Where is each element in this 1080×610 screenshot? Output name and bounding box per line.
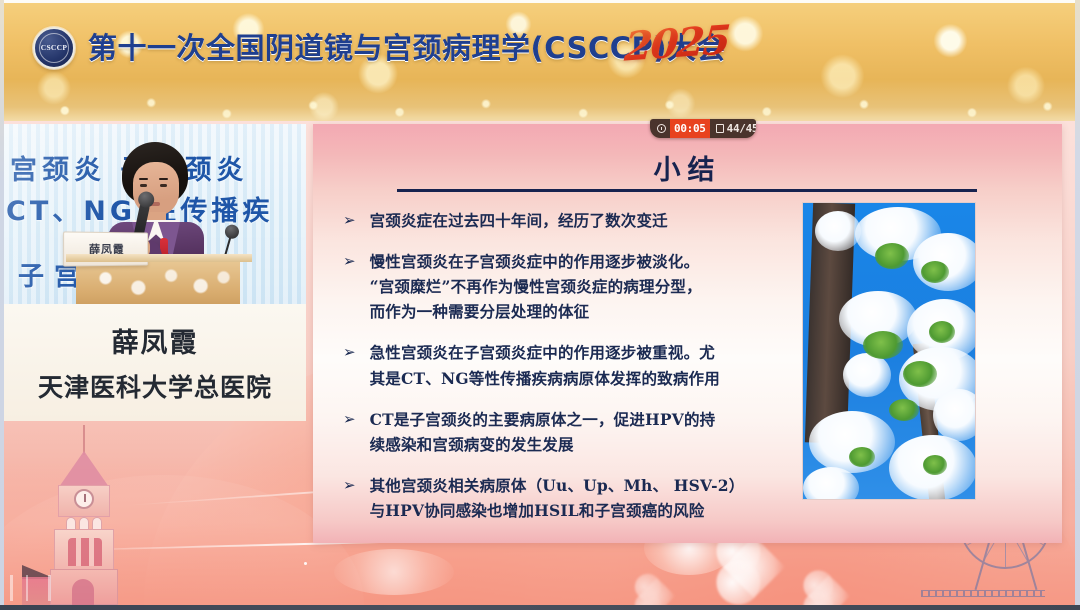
page-counter-segment: 44/45: [710, 122, 756, 135]
clock-icon: [657, 124, 666, 133]
glow-blob-2: [334, 549, 454, 595]
page-counter-value: 44/45: [727, 122, 756, 135]
presentation-screen-background: 宫颈炎 子宫颈炎 CT、NG 性传播疾 子宫 要病 薛凤霞: [4, 124, 306, 304]
timer-elapsed-value: 00:05: [674, 122, 706, 135]
tower-body-upper: [54, 529, 114, 571]
frame-left: [0, 0, 4, 610]
speaker-video-panel[interactable]: 宫颈炎 子宫颈炎 CT、NG 性传播疾 子宫 要病 薛凤霞: [4, 124, 306, 421]
list-item: ➢ CT是子宫颈炎的主要病原体之一，促进HPV的持 续感染和宫颈病变的发生发展: [343, 407, 813, 457]
speaker-name: 薛凤霞: [112, 321, 199, 360]
logo-ring: CSCCP: [39, 33, 69, 63]
speaker-affiliation: 天津医科大学总医院: [38, 368, 272, 404]
event-header-banner: CSCCP 第十一次全国阴道镜与宫颈病理学(CSCCP)大会 2025: [0, 3, 1080, 121]
bullet-text: 急性宫颈炎在子宫颈炎症中的作用逐步被重视。尤 其是CT、NG等性传播疾病病原体发…: [370, 340, 720, 390]
slide-title: 小结: [313, 148, 1062, 187]
bullet-arrow-icon: ➢: [343, 343, 356, 361]
page-icon: [716, 124, 724, 133]
bullet-arrow-icon: ➢: [343, 211, 356, 229]
screenshot-stage: CSCCP 第十一次全国阴道镜与宫颈病理学(CSCCP)大会 2025: [0, 0, 1080, 610]
slide-photo-flowering-tree: [802, 202, 976, 500]
bullet-text: 宫颈炎症在过去四十年间，经历了数次变迁: [370, 208, 668, 233]
list-item: ➢ 宫颈炎症在过去四十年间，经历了数次变迁: [343, 208, 813, 233]
frame-bottom: [0, 605, 1080, 610]
frame-right: [1075, 0, 1080, 610]
list-item: ➢ 急性宫颈炎在子宫颈炎症中的作用逐步被重视。尤 其是CT、NG等性传播疾病病原…: [343, 340, 813, 390]
podium-top-edge: [66, 254, 252, 262]
bullet-text: 其他宫颈炎相关病原体（Uu、Up、Mh、 HSV-2） 与HPV协同感染也增加H…: [370, 473, 745, 523]
bullet-arrow-icon: ➢: [343, 252, 356, 270]
timer-clock-segment: [650, 124, 670, 133]
slide-title-underline: [397, 189, 977, 192]
logo-text: CSCCP: [41, 44, 68, 52]
tower-clock-face-icon: [74, 489, 94, 509]
slide-panel[interactable]: 小结 ➢ 宫颈炎症在过去四十年间，经历了数次变迁 ➢ 慢性宫颈炎在子宫颈炎症中的…: [313, 124, 1062, 543]
bullet-arrow-icon: ➢: [343, 410, 356, 428]
bullet-arrow-icon: ➢: [343, 476, 356, 494]
frame-top: [0, 0, 1080, 3]
list-item: ➢ 慢性宫颈炎在子宫颈炎症中的作用逐步被淡化。 “宫颈糜烂”不再作为慢性宫颈炎症…: [343, 249, 813, 324]
timer-elapsed-segment: 00:05: [670, 119, 710, 138]
csccp-logo-icon: CSCCP: [33, 27, 75, 69]
speaker-caption-area: 薛凤霞 天津医科大学总医院: [4, 304, 306, 421]
status-badge[interactable]: 00:05 44/45: [650, 119, 756, 138]
tower-roof: [59, 451, 109, 487]
ferris-base-bridge: [921, 590, 1045, 597]
sparkle-dot: [304, 562, 307, 565]
slide-bullet-list: ➢ 宫颈炎症在过去四十年间，经历了数次变迁 ➢ 慢性宫颈炎在子宫颈炎症中的作用逐…: [343, 208, 813, 539]
list-item: ➢ 其他宫颈炎相关病原体（Uu、Up、Mh、 HSV-2） 与HPV协同感染也增…: [343, 473, 813, 523]
bullet-text: CT是子宫颈炎的主要病原体之一，促进HPV的持 续感染和宫颈病变的发生发展: [370, 407, 716, 457]
skyline-lights: [4, 575, 124, 601]
event-year: 2025: [623, 16, 730, 70]
bullet-text: 慢性宫颈炎在子宫颈炎症中的作用逐步被淡化。 “宫颈糜烂”不再作为慢性宫颈炎症的病…: [370, 249, 702, 324]
